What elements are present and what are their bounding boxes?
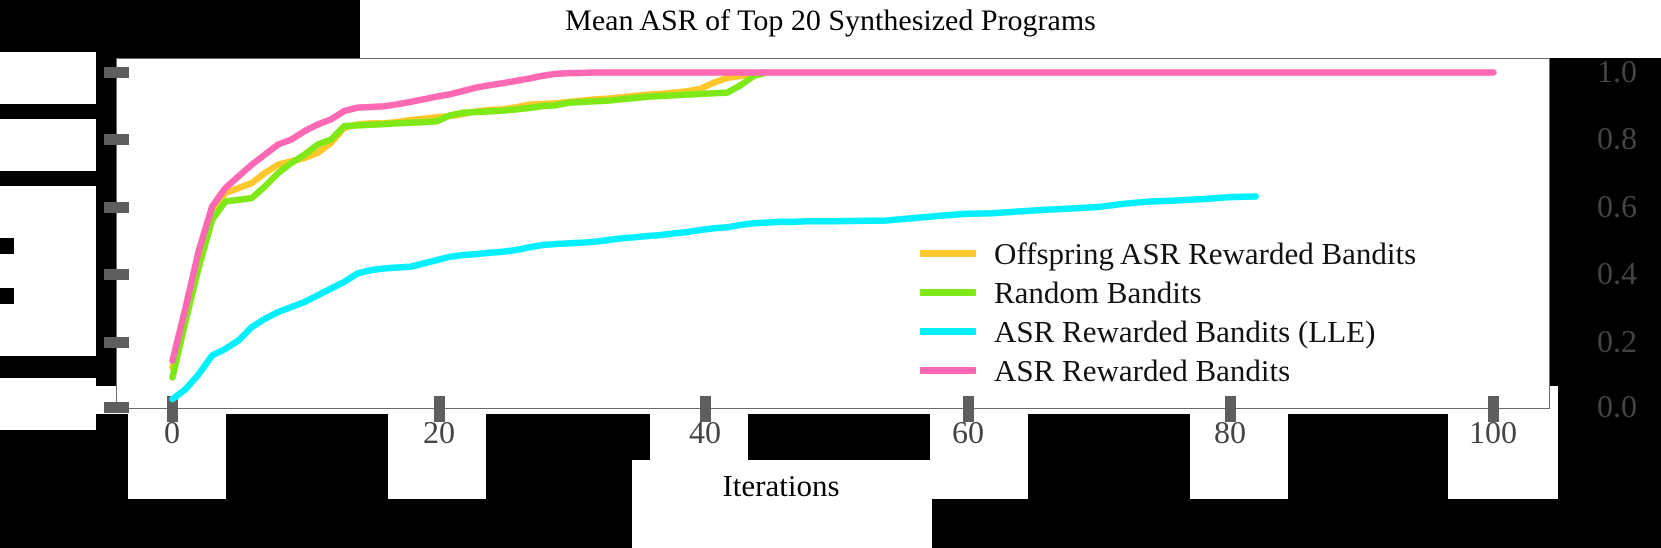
legend-label: ASR Rewarded Bandits: [994, 355, 1290, 386]
legend-label: Random Bandits: [994, 277, 1202, 308]
legend-item-asr-rewarded-bandits-lle[interactable]: ASR Rewarded Bandits (LLE): [920, 312, 1520, 351]
legend-swatch-icon: [920, 328, 976, 335]
legend-swatch-icon: [920, 250, 976, 257]
legend: Offspring ASR Rewarded Bandits Random Ba…: [920, 234, 1520, 390]
legend-swatch-icon: [920, 367, 976, 374]
figure-canvas: Mean ASR of Top 20 Synthesized Programs …: [0, 0, 1661, 548]
series-line: [173, 73, 767, 378]
legend-label: ASR Rewarded Bandits (LLE): [994, 316, 1375, 347]
legend-swatch-icon: [920, 289, 976, 296]
legend-label: Offspring ASR Rewarded Bandits: [994, 238, 1416, 269]
legend-item-asr-rewarded-bandits[interactable]: ASR Rewarded Bandits: [920, 351, 1520, 390]
legend-item-random-bandits[interactable]: Random Bandits: [920, 273, 1520, 312]
legend-item-offspring-asr-rewarded-bandits[interactable]: Offspring ASR Rewarded Bandits: [920, 234, 1520, 273]
